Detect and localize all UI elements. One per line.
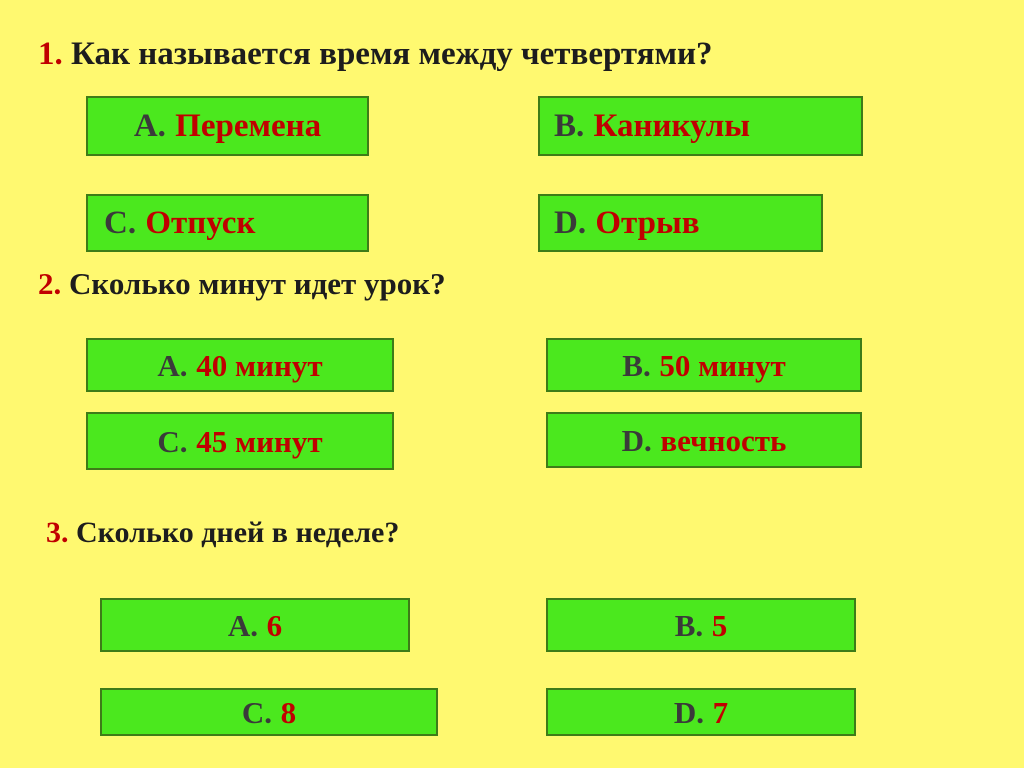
answer-1b-letter: B. [554, 110, 584, 143]
answer-2c-letter: C. [157, 426, 187, 457]
answer-1c[interactable]: C. Отпуск [86, 194, 369, 252]
question-3-number: 3. [46, 516, 69, 549]
answer-3c-letter: C. [242, 697, 272, 728]
question-1-number: 1. [38, 36, 63, 72]
answer-2d[interactable]: D. вечность [546, 412, 862, 468]
question-2-number: 2. [38, 266, 61, 301]
answer-2c-text: 45 минут [196, 426, 322, 457]
answer-1c-text: Отпуск [145, 207, 255, 240]
answer-2b[interactable]: B. 50 минут [546, 338, 862, 392]
answer-3a-text: 6 [267, 610, 283, 641]
answer-2a-letter: A. [157, 350, 187, 381]
answer-2d-letter: D. [622, 425, 652, 456]
answer-2a[interactable]: A. 40 минут [86, 338, 394, 392]
answer-1b[interactable]: B. Каникулы [538, 96, 863, 156]
answer-3d-text: 7 [713, 697, 729, 728]
answer-1a[interactable]: A. Перемена [86, 96, 369, 156]
answer-3b[interactable]: B. 5 [546, 598, 856, 652]
answer-1d[interactable]: D. Отрыв [538, 194, 823, 252]
answer-3a[interactable]: A. 6 [100, 598, 410, 652]
answer-1b-text: Каникулы [594, 110, 751, 143]
answer-1d-letter: D. [554, 207, 586, 240]
answer-2c[interactable]: C. 45 минут [86, 412, 394, 470]
answer-2a-text: 40 минут [196, 350, 322, 381]
answer-1a-text: Перемена [175, 110, 321, 143]
question-1-heading: 1. Как называется время между четвертями… [38, 38, 713, 71]
answer-3d-letter: D. [674, 697, 704, 728]
answer-3c-text: 8 [281, 697, 297, 728]
answer-2b-letter: B. [622, 350, 650, 381]
answer-3b-letter: B. [675, 610, 703, 641]
answer-3c[interactable]: C. 8 [100, 688, 438, 736]
answer-1a-letter: A. [134, 110, 166, 143]
answer-3d[interactable]: D. 7 [546, 688, 856, 736]
question-2-text: Сколько минут идет урок? [69, 266, 446, 301]
quiz-slide: 1. Как называется время между четвертями… [0, 0, 1024, 768]
answer-2d-text: вечность [660, 425, 786, 456]
answer-1d-text: Отрыв [595, 207, 699, 240]
answer-3a-letter: A. [228, 610, 258, 641]
question-3-heading: 3. Сколько дней в неделе? [46, 518, 399, 548]
answer-2b-text: 50 минут [659, 350, 785, 381]
answer-3b-text: 5 [712, 610, 728, 641]
question-3-text: Сколько дней в неделе? [76, 516, 399, 549]
answer-1c-letter: C. [104, 207, 136, 240]
question-2-heading: 2. Сколько минут идет урок? [38, 268, 446, 299]
question-1-text: Как называется время между четвертями? [71, 36, 713, 72]
